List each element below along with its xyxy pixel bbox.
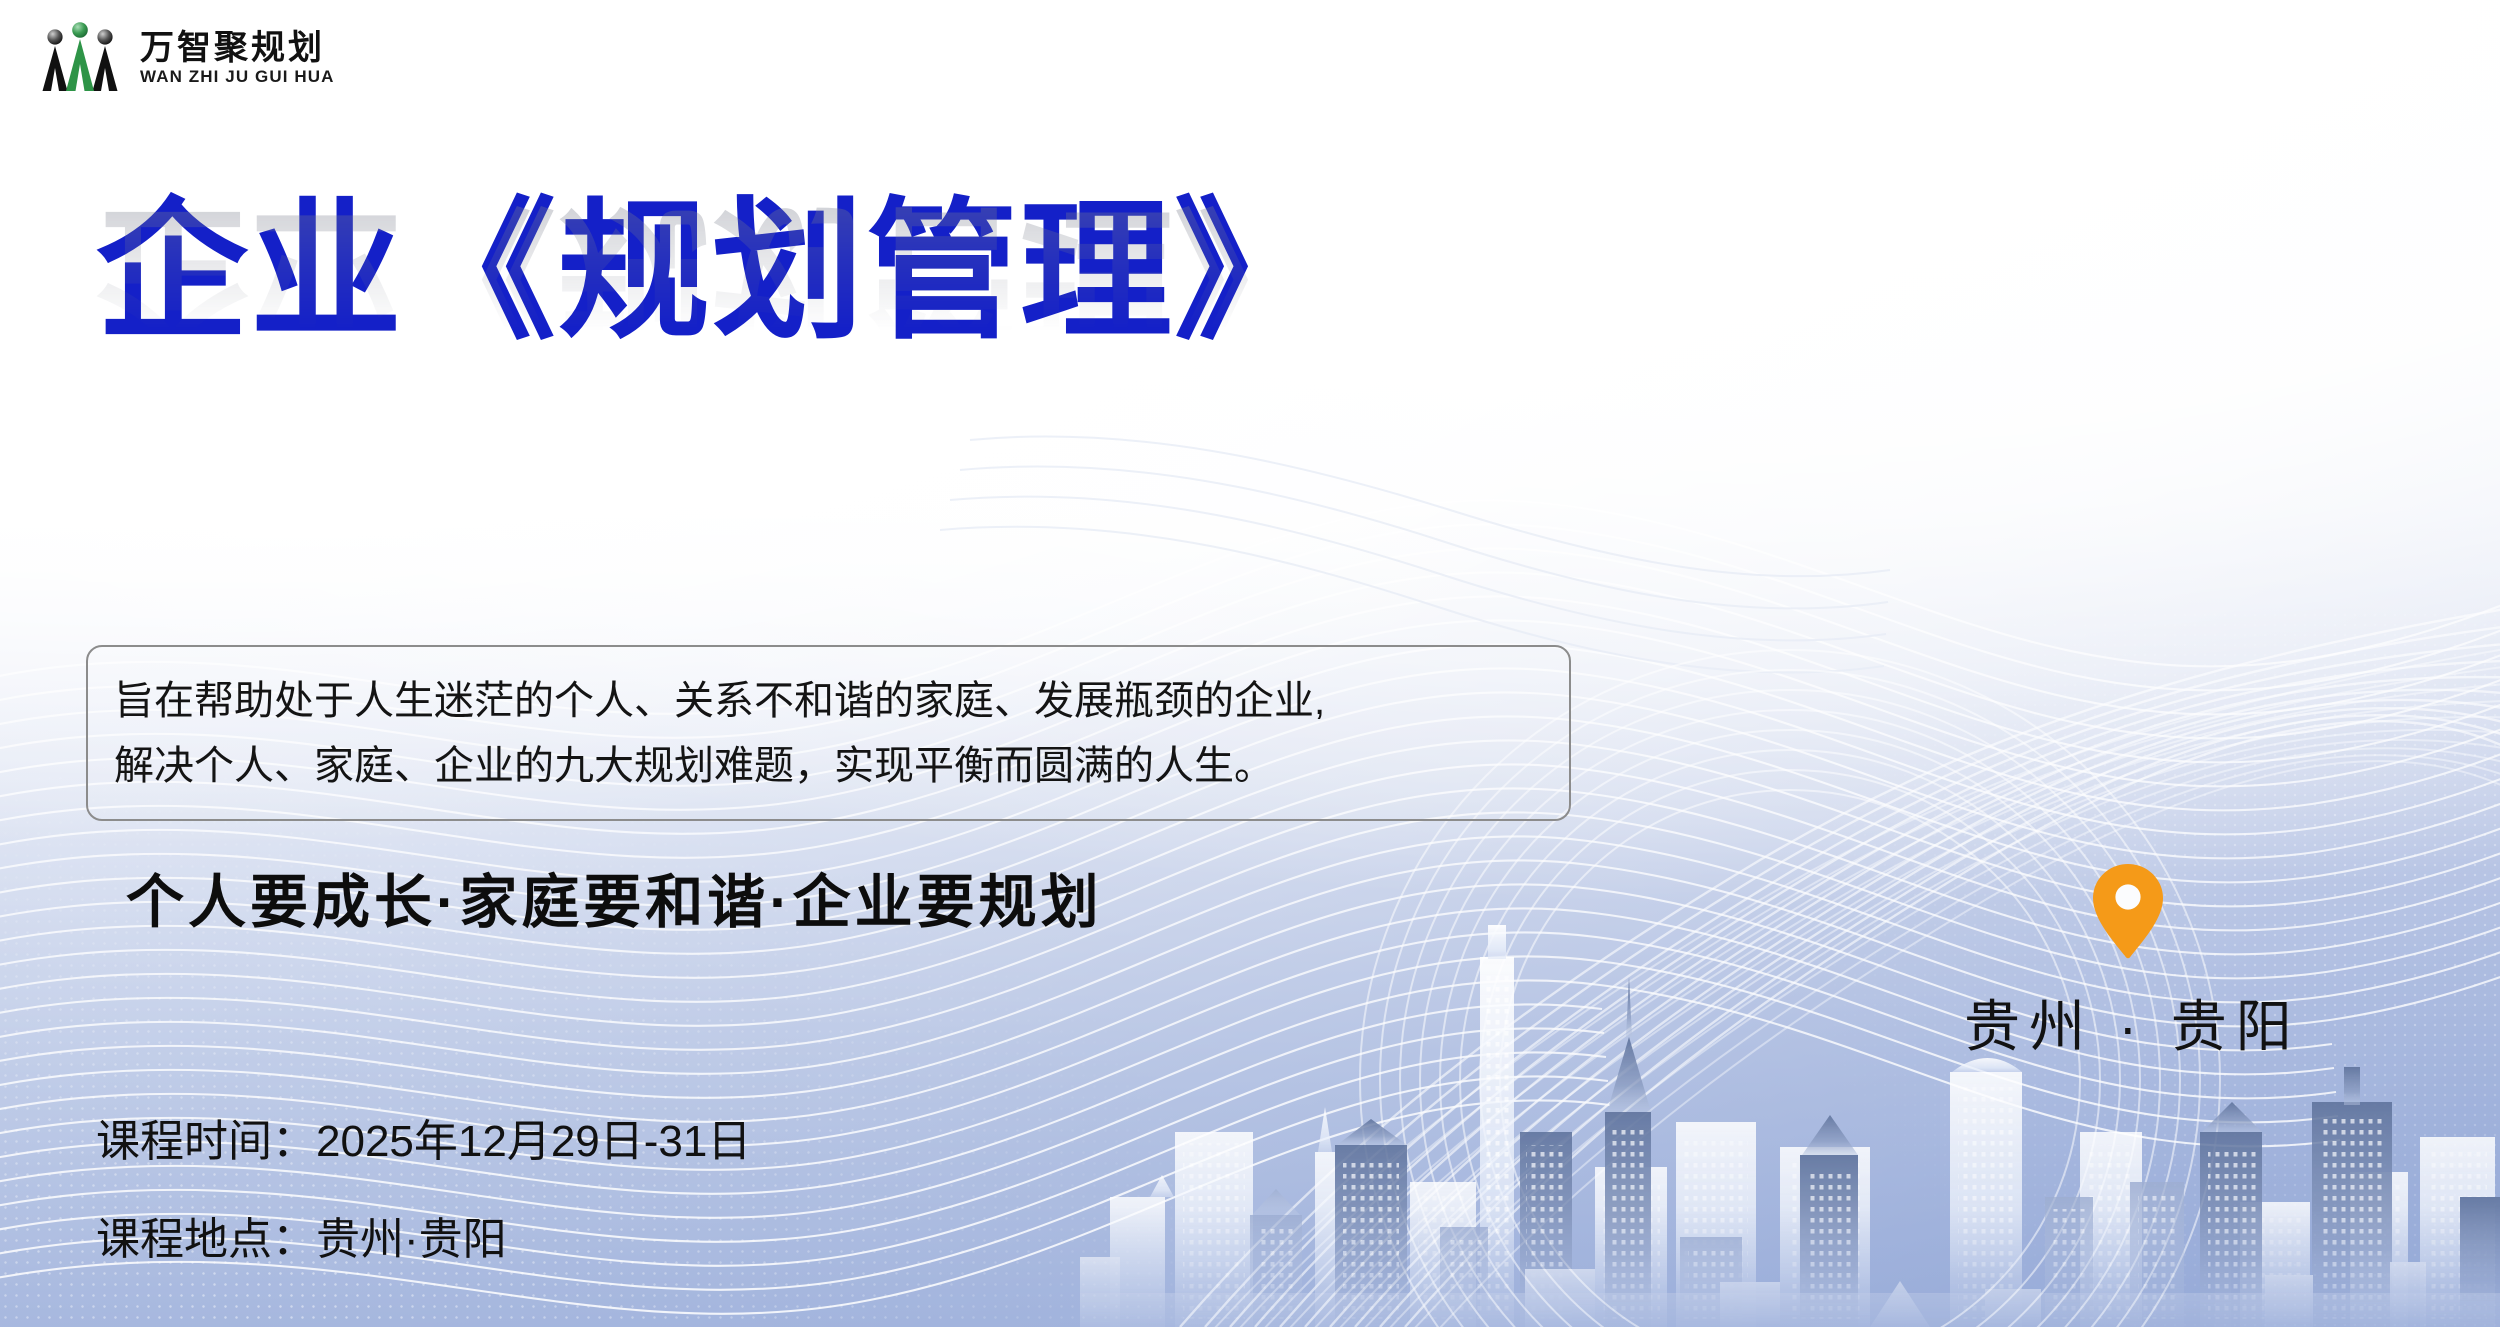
description-line-1: 旨在帮助处于人生迷茫的个人、关系不和谐的家庭、发展瓶颈的企业,	[114, 669, 1545, 734]
three-people-logo-icon	[34, 18, 126, 96]
brand-name-cn: 万智聚规划	[140, 31, 335, 67]
location-badge: 贵州 · 贵阳	[1955, 862, 2301, 1063]
brand-logo[interactable]: 万智聚规划 WAN ZHI JU GUI HUA	[34, 18, 335, 96]
brand-wordmark: 万智聚规划 WAN ZHI JU GUI HUA	[140, 29, 335, 86]
description-line-2: 解决个人、家庭、企业的九大规划难题，实现平衡而圆满的人生。	[114, 734, 1545, 799]
description-box: 旨在帮助处于人生迷茫的个人、关系不和谐的家庭、发展瓶颈的企业, 解决个人、家庭、…	[86, 645, 1571, 821]
hero-headline-block: 企业《规划管理》 企业《规划管理》	[96, 196, 1328, 502]
location-city-label: 贵州 · 贵阳	[1955, 982, 2301, 1063]
course-place-row: 课程地点：贵州·贵阳	[96, 1218, 751, 1262]
map-pin-icon	[2089, 862, 2167, 960]
course-info-block: 课程时间：2025年12月29日-31日 课程地点：贵州·贵阳	[96, 1120, 751, 1262]
brand-name-pinyin: WAN ZHI JU GUI HUA	[140, 68, 335, 85]
course-time-row: 课程时间：2025年12月29日-31日	[96, 1120, 751, 1164]
poster-canvas: 万智聚规划 WAN ZHI JU GUI HUA 企业《规划管理》 企业《规划管…	[0, 0, 2500, 1327]
slogan-text: 个人要成长·家庭要和谐·企业要规划	[126, 855, 1103, 939]
page-title: 企业《规划管理》	[96, 196, 1328, 348]
